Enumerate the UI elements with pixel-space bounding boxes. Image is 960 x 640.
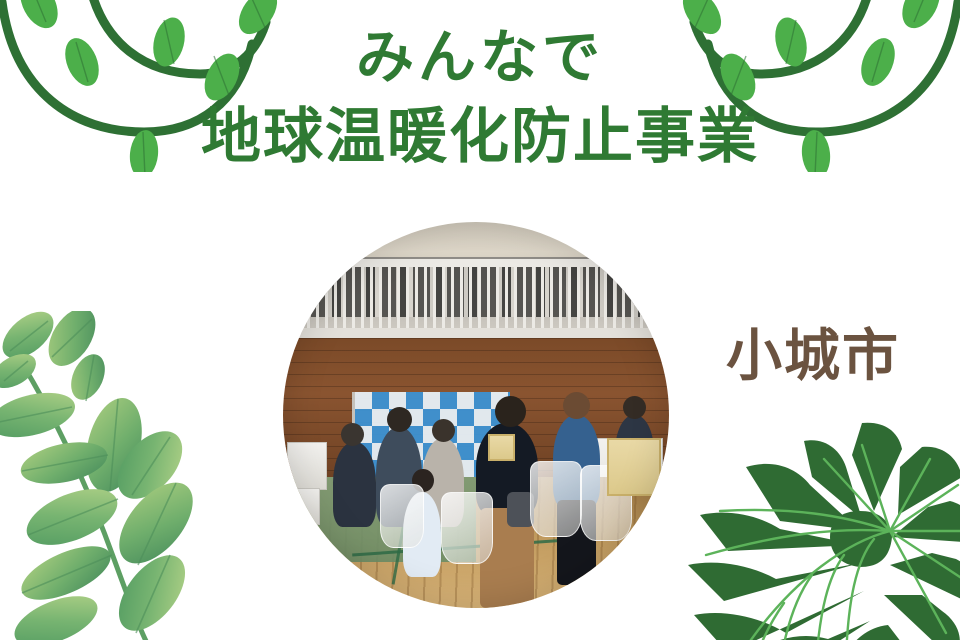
- event-photo-circle: [283, 222, 669, 608]
- poster-title: みんなで 地球温暖化防止事業: [0, 26, 960, 172]
- poster-canvas: みんなで 地球温暖化防止事業 小城市: [0, 0, 960, 640]
- city-name-label: 小城市: [726, 329, 900, 385]
- title-line-1: みんなで: [0, 26, 960, 89]
- photo-vignette: [283, 222, 669, 608]
- monstera-leaf-bottom-right: [684, 415, 960, 640]
- event-photo-scene: [283, 222, 669, 608]
- watercolor-branch-bottom-left: [0, 311, 230, 640]
- title-line-2: 地球温暖化防止事業: [0, 103, 960, 172]
